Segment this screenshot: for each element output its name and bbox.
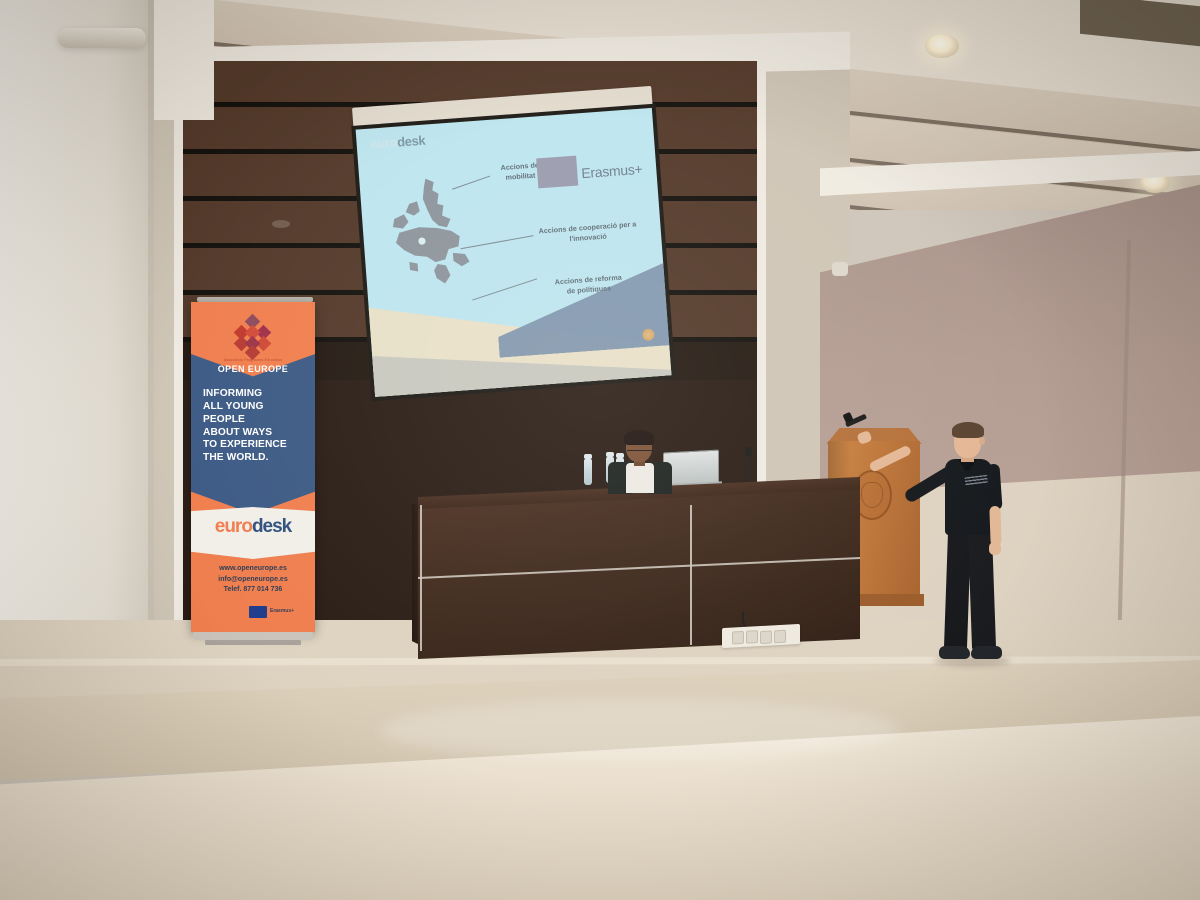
bottle-cap-icon: [584, 454, 592, 459]
floor-reflection: [380, 700, 900, 760]
wall-light-fixture: [58, 28, 146, 48]
shoe-left: [939, 646, 970, 659]
rollup-banner: Associació Programes Educatius OPEN EURO…: [191, 297, 315, 649]
ceiling-downlight: [925, 34, 959, 58]
banner-organisation: OPEN EUROPE: [191, 364, 315, 374]
auditorium-photo: eurodesk Accions de mobi: [0, 0, 1200, 900]
shoe-right: [971, 646, 1002, 659]
ear: [979, 437, 985, 445]
slide-callout-cooperation: Accions de cooperació per a l'innovació: [527, 219, 648, 247]
banner-subtitle: Associació Programes Educatius: [191, 358, 315, 362]
arm-right-sleeve: [986, 464, 1002, 511]
leg-left: [944, 530, 971, 651]
hair: [952, 422, 984, 438]
banner-phone: Telef. 877 014 736: [191, 585, 315, 596]
glasses-icon: [627, 444, 652, 451]
water-bottle: [584, 459, 592, 485]
banner-base-foot: [205, 640, 301, 645]
slide-eurodesk-logo: eurodesk: [370, 133, 426, 152]
desk-trim-line: [420, 505, 422, 651]
eu-flag-icon: [249, 606, 267, 618]
floor-power-outlet[interactable]: [722, 624, 800, 648]
hand-right: [989, 542, 1001, 555]
slide-logo-part1: euro: [370, 135, 398, 152]
erasmus-logo-mark: [536, 156, 578, 189]
forearm-right: [989, 506, 1001, 546]
projection-screen: eurodesk Accions de mobi: [350, 85, 686, 447]
seated-moderator: [604, 432, 676, 494]
microphone-icon: [745, 447, 752, 456]
eurodesk-wordmark-part2: desk: [252, 516, 291, 537]
banner-base: [193, 632, 313, 640]
shirt: [626, 463, 654, 493]
eurodesk-wordmark: eurodesk: [191, 516, 315, 538]
hair: [624, 430, 654, 445]
banner-website: www.openeurope.es: [191, 564, 315, 575]
banner-funder-label: Erasmus+: [270, 608, 294, 614]
slide-logo-part2: desk: [397, 133, 426, 150]
erasmus-brand-text: Erasmus+: [581, 161, 643, 181]
banner-artwork: Associació Programes Educatius OPEN EURO…: [191, 302, 315, 632]
smoke-detector-icon: [832, 262, 848, 276]
slide-band-blue: [493, 259, 671, 358]
europe-map-icon: [381, 173, 485, 298]
open-europe-diamond-logo: [232, 316, 274, 358]
banner-slogan: INFORMING ALL YOUNG PEOPLE ABOUT WAYS TO…: [203, 388, 307, 465]
left-wall: [154, 0, 214, 120]
left-pillar: [0, 0, 152, 690]
standing-presenter: [908, 420, 1018, 670]
banner-email: info@openeurope.es: [191, 575, 315, 586]
banner-contact-block: www.openeurope.es info@openeurope.es Tel…: [191, 564, 315, 596]
eurodesk-wordmark-part1: euro: [215, 516, 252, 537]
presentation-slide: eurodesk Accions de mobi: [356, 108, 672, 397]
desk-trim-line: [690, 505, 692, 645]
ceiling-notch: [1080, 0, 1200, 46]
